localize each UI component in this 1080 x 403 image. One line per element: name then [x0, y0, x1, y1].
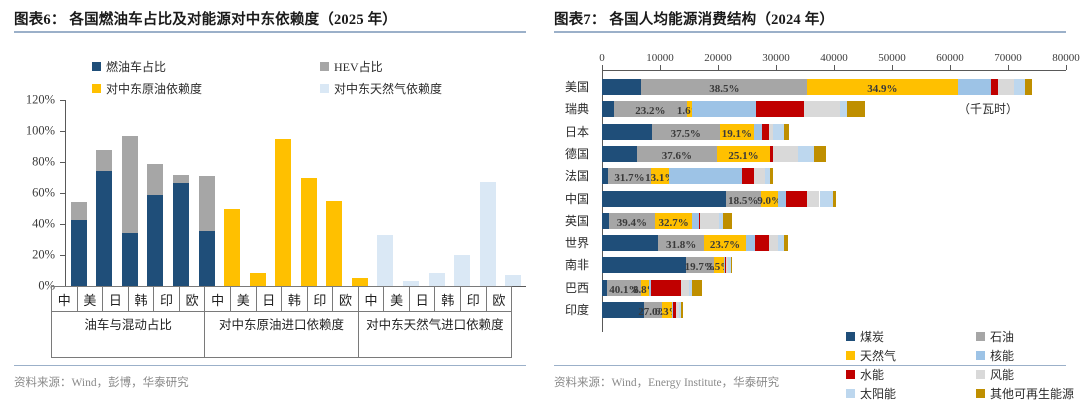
legend-label: 天然气	[860, 347, 896, 364]
y-axis-tick	[60, 224, 65, 225]
stacked-bar: 31.8%23.7%	[602, 235, 1066, 251]
figure-6-category-row: 中美日韩印欧中美日韩印欧中美日韩印欧	[51, 286, 512, 312]
x-axis-tick	[1066, 65, 1067, 70]
x-axis-category-label: 印	[153, 286, 179, 312]
data-label: 18.5%	[728, 195, 758, 207]
bar-segment	[755, 235, 770, 251]
legend-label: 核能	[990, 347, 1014, 364]
stacked-bar: 31.7%13.1%	[602, 168, 1066, 184]
x-axis-group-label: 油车与混动占比	[51, 312, 204, 358]
data-label: 19.1%	[722, 128, 752, 140]
bar-row: 德国37.6%25.1%	[558, 143, 1066, 165]
bar-segment	[96, 150, 112, 171]
x-axis-tick-label: 0	[599, 52, 605, 64]
y-axis-tick-label: 120%	[26, 93, 55, 108]
legend-swatch-icon	[320, 62, 329, 71]
figure-6-legend: 燃油车占比HEV占比对中东原油依赖度对中东天然气依赖度	[0, 58, 540, 100]
y-axis-tick	[60, 100, 65, 101]
bar-segment	[301, 178, 317, 287]
bar-segment	[352, 278, 368, 286]
legend-label: 煤炭	[860, 328, 884, 345]
stacked-bar: 18.5%9.0%	[602, 191, 1066, 207]
bar-segment	[122, 233, 138, 286]
bar-column	[224, 209, 240, 287]
x-axis-group-label: 对中东原油进口依赖度	[204, 312, 357, 358]
bar-segment	[833, 191, 836, 207]
bar-segment	[784, 124, 789, 140]
bar-segment	[773, 124, 784, 140]
figure-6-source-rule	[14, 365, 526, 366]
x-axis-tick-label: 40000	[820, 52, 848, 64]
x-axis-tick-label: 50000	[878, 52, 906, 64]
y-axis-tick-label: 60%	[32, 186, 55, 201]
legend-swatch-icon	[976, 351, 985, 360]
bar-segment	[602, 235, 658, 251]
bar-column	[250, 273, 266, 286]
country-label: 德国	[558, 146, 596, 162]
bar-segment	[769, 235, 778, 251]
legend-swatch-icon	[976, 332, 985, 341]
bar-segment	[199, 231, 215, 286]
stacked-bar: 19.7%3.5%	[602, 257, 1066, 273]
bar-column	[122, 136, 138, 286]
data-label: 31.7%	[614, 172, 644, 184]
figure-7-source: 资料来源：Wind，Energy Institute，华泰研究	[554, 374, 779, 390]
x-axis-tick-label: 30000	[762, 52, 790, 64]
legend-swatch-icon	[320, 84, 329, 93]
figure-6-panel: 图表6： 各国燃油车占比及对能源对中东依赖度（2025 年） 燃油车占比HEV占…	[0, 0, 540, 403]
bar-segment	[71, 202, 87, 221]
bar-segment	[820, 191, 834, 207]
legend-label: 石油	[990, 328, 1014, 345]
bar-row: 世界31.8%23.7%	[558, 232, 1066, 254]
country-label: 世界	[558, 235, 596, 251]
country-label: 中国	[558, 191, 596, 207]
country-label: 巴西	[558, 280, 596, 296]
x-axis-category-label: 美	[77, 286, 103, 312]
figure-7-legend-item: 煤炭	[846, 328, 884, 345]
bar-segment	[505, 275, 521, 286]
data-label: 25.1%	[728, 150, 758, 162]
bar-segment	[798, 146, 814, 162]
bar-segment	[96, 171, 112, 286]
figures-page: 图表6： 各国燃油车占比及对能源对中东依赖度（2025 年） 燃油车占比HEV占…	[0, 0, 1080, 403]
bar-row: 中国18.5%9.0%	[558, 188, 1066, 210]
bar-row: 英国39.4%32.7%	[558, 210, 1066, 232]
country-label: 法国	[558, 168, 596, 184]
bar-segment	[669, 168, 742, 184]
x-axis-group-label: 对中东天然气进口依赖度	[358, 312, 512, 358]
bar-column	[480, 182, 496, 286]
figure-7-unit-label: （千瓦时）	[958, 100, 1018, 117]
bar-segment	[692, 280, 701, 296]
bar-segment	[778, 191, 786, 207]
figure-6-x-axis-labels: 中美日韩印欧中美日韩印欧中美日韩印欧 油车与混动占比对中东原油进口依赖度对中东天…	[51, 286, 512, 358]
figure-7-legend-item: 太阳能	[846, 385, 896, 402]
bar-segment	[756, 101, 804, 117]
bar-segment	[250, 273, 266, 286]
country-label: 英国	[558, 213, 596, 229]
bar-segment	[1025, 79, 1032, 95]
x-axis-category-label: 日	[102, 286, 128, 312]
country-label: 日本	[558, 124, 596, 140]
bar-segment	[173, 183, 189, 286]
country-label: 印度	[558, 302, 596, 318]
bar-row: 印度27.0%6.3%	[558, 299, 1066, 321]
bar-segment	[681, 280, 689, 296]
data-label: 23.2%	[635, 105, 665, 117]
x-axis-tick-label: 10000	[646, 52, 674, 64]
bar-column	[71, 202, 87, 286]
x-axis-tick-label: 60000	[936, 52, 964, 64]
x-axis-category-label: 韩	[434, 286, 460, 312]
y-axis-tick	[60, 255, 65, 256]
bar-column	[96, 150, 112, 286]
data-label: 34.9%	[867, 83, 897, 95]
legend-label: 燃油车占比	[106, 58, 166, 75]
y-axis-tick-label: 100%	[26, 124, 55, 139]
bar-segment	[377, 235, 393, 286]
stacked-bar: 37.5%19.1%	[602, 124, 1066, 140]
bar-segment	[454, 255, 470, 286]
figure-6-title-rule	[14, 31, 526, 33]
bar-segment	[681, 302, 682, 318]
bar-segment	[847, 101, 866, 117]
figure-7-title: 图表7： 各国人均能源消费结构（2024 年）	[554, 8, 834, 29]
x-axis-category-label: 欧	[332, 286, 358, 312]
legend-label: 对中东原油依赖度	[106, 80, 202, 97]
data-label: 39.4%	[617, 217, 647, 229]
figure-6-plot: 120%100%80%60%40%20%0%	[14, 100, 526, 292]
y-axis-tick	[60, 162, 65, 163]
bar-segment	[602, 213, 609, 229]
stacked-bar: 38.5%34.9%	[602, 79, 1066, 95]
legend-swatch-icon	[846, 332, 855, 341]
x-axis-category-label: 欧	[179, 286, 205, 312]
figure-7-plot: 美国38.5%34.9%瑞典23.2%1.6%日本37.5%19.1%德国37.…	[558, 70, 1066, 338]
bar-segment	[742, 168, 754, 184]
stacked-bar: 40.1%8.8%	[602, 280, 1066, 296]
x-axis-category-label: 印	[460, 286, 486, 312]
bar-segment	[602, 79, 641, 95]
bar-segment	[814, 146, 826, 162]
bar-segment	[807, 191, 820, 207]
bar-segment	[480, 182, 496, 286]
bar-segment	[147, 164, 163, 196]
bar-segment	[224, 209, 240, 287]
figure-6-legend-item: 燃油车占比	[92, 58, 166, 75]
bar-segment	[275, 139, 291, 286]
legend-label: 太阳能	[860, 385, 896, 402]
country-label: 美国	[558, 79, 596, 95]
bar-segment	[700, 213, 719, 229]
country-label: 南非	[558, 257, 596, 273]
x-axis-category-label: 韩	[128, 286, 154, 312]
bar-segment	[71, 220, 87, 286]
bar-segment	[754, 124, 762, 140]
bar-segment	[326, 201, 342, 286]
stacked-bar: 27.0%6.3%	[602, 302, 1066, 318]
bar-column	[301, 178, 317, 287]
bar-row: 法国31.7%13.1%	[558, 165, 1066, 187]
bar-segment	[958, 79, 992, 95]
bar-segment	[731, 257, 732, 273]
data-label: 31.8%	[666, 239, 696, 251]
figure-7-x-axis: 0100002000030000400005000060000700008000…	[540, 50, 1080, 68]
bar-column	[199, 176, 215, 286]
figure-7-legend-item: 天然气	[846, 347, 896, 364]
x-axis-category-label: 印	[307, 286, 333, 312]
bar-segment	[602, 124, 652, 140]
legend-swatch-icon	[976, 370, 985, 379]
x-axis-category-label: 美	[383, 286, 409, 312]
figure-6-legend-item: HEV占比	[320, 58, 383, 75]
bar-segment	[723, 213, 733, 229]
bar-segment	[199, 176, 215, 231]
figure-6-source: 资料来源：Wind，彭博，华泰研究	[14, 374, 189, 390]
y-axis-tick-label: 80%	[32, 155, 55, 170]
bar-segment	[998, 79, 1015, 95]
y-axis-tick-label: 40%	[32, 217, 55, 232]
x-axis-category-label: 韩	[281, 286, 307, 312]
bar-column	[173, 175, 189, 286]
x-axis-category-label: 中	[204, 286, 230, 312]
figure-7-legend-item: 风能	[976, 366, 1014, 383]
x-axis-category-label: 欧	[486, 286, 513, 312]
stacked-bar: 39.4%32.7%	[602, 213, 1066, 229]
figure-7-source-rule	[554, 365, 1066, 366]
figure-6-legend-item: 对中东原油依赖度	[92, 80, 202, 97]
bar-column	[352, 278, 368, 286]
bar-segment	[692, 101, 756, 117]
figure-6-legend-item: 对中东天然气依赖度	[320, 80, 442, 97]
bar-segment	[746, 235, 755, 251]
bar-column	[377, 235, 393, 286]
bar-row: 巴西40.1%8.8%	[558, 277, 1066, 299]
figure-7-legend-item: 石油	[976, 328, 1014, 345]
figure-7-legend-item: 核能	[976, 347, 1014, 364]
x-axis-category-label: 中	[51, 286, 77, 312]
x-axis-tick-label: 70000	[994, 52, 1022, 64]
figure-6-bars	[66, 100, 526, 286]
bar-segment	[651, 280, 681, 296]
bar-segment	[122, 136, 138, 232]
figure-6-y-axis: 120%100%80%60%40%20%0%	[14, 100, 60, 292]
bar-segment	[840, 101, 847, 117]
bar-column	[429, 273, 445, 286]
country-label: 瑞典	[558, 101, 596, 117]
bar-column	[275, 139, 291, 286]
legend-label: 其他可再生能源	[990, 385, 1074, 402]
bar-segment	[602, 146, 637, 162]
bar-segment	[804, 101, 840, 117]
bar-column	[454, 255, 470, 286]
figure-7-title-rule	[554, 31, 1066, 33]
stacked-bar: 37.6%25.1%	[602, 146, 1066, 162]
data-label: 37.6%	[662, 150, 692, 162]
x-axis-category-label: 中	[358, 286, 384, 312]
bar-row: 日本37.5%19.1%	[558, 121, 1066, 143]
data-label: 23.7%	[710, 239, 740, 251]
y-axis-tick	[60, 193, 65, 194]
figure-7-legend-item: 水能	[846, 366, 884, 383]
bar-row: 美国38.5%34.9%	[558, 76, 1066, 98]
legend-swatch-icon	[92, 84, 101, 93]
bar-segment	[1014, 79, 1025, 95]
data-label: 38.5%	[709, 83, 739, 95]
legend-swatch-icon	[846, 389, 855, 398]
x-axis-category-label: 日	[256, 286, 282, 312]
legend-swatch-icon	[92, 62, 101, 71]
y-axis-tick-label: 20%	[32, 248, 55, 263]
bar-segment	[147, 195, 163, 286]
x-axis-category-label: 日	[409, 286, 435, 312]
legend-swatch-icon	[846, 351, 855, 360]
legend-swatch-icon	[846, 370, 855, 379]
bar-segment	[773, 146, 799, 162]
bar-column	[326, 201, 342, 286]
bar-segment	[173, 175, 189, 183]
figure-7-panel: 图表7： 各国人均能源消费结构（2024 年） 0100002000030000…	[540, 0, 1080, 403]
legend-label: 风能	[990, 366, 1014, 383]
bar-column	[505, 275, 521, 286]
bar-segment	[770, 168, 772, 184]
x-axis-category-label: 美	[230, 286, 256, 312]
y-axis-tick	[60, 131, 65, 132]
bar-segment	[784, 235, 788, 251]
bar-segment	[762, 124, 769, 140]
bar-segment	[429, 273, 445, 286]
bar-row: 南非19.7%3.5%	[558, 254, 1066, 276]
legend-swatch-icon	[976, 389, 985, 398]
data-label: 32.7%	[659, 217, 689, 229]
bar-segment	[754, 168, 765, 184]
x-axis-tick-label: 80000	[1052, 52, 1080, 64]
figure-6-group-row: 油车与混动占比对中东原油进口依赖度对中东天然气进口依赖度	[51, 312, 512, 358]
data-label: 37.5%	[671, 128, 701, 140]
figure-7-legend-item: 其他可再生能源	[976, 385, 1074, 402]
x-axis-tick-label: 20000	[704, 52, 732, 64]
bar-segment	[786, 191, 807, 207]
bar-segment	[602, 101, 614, 117]
legend-label: 水能	[860, 366, 884, 383]
bar-segment	[602, 191, 726, 207]
bar-column	[147, 164, 163, 286]
legend-label: HEV占比	[334, 58, 383, 75]
bar-segment	[602, 257, 686, 273]
legend-label: 对中东天然气依赖度	[334, 80, 442, 97]
figure-6-title: 图表6： 各国燃油车占比及对能源对中东依赖度（2025 年）	[14, 8, 397, 29]
